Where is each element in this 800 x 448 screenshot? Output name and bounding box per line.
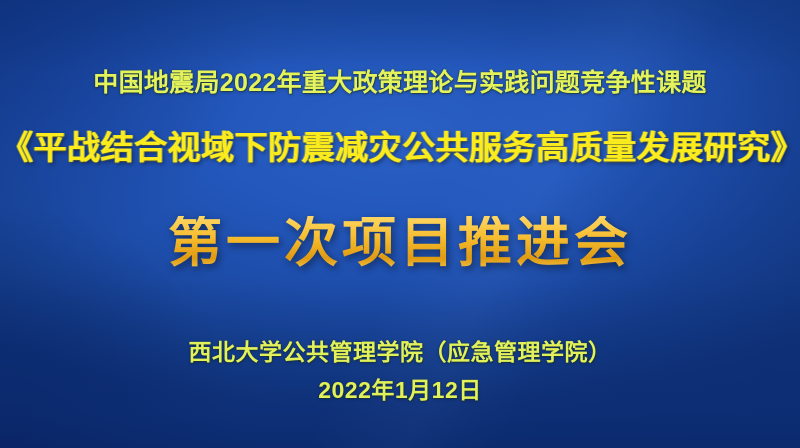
slide-content: 中国地震局2022年重大政策理论与实践问题竞争性课题 《平战结合视域下防震减灾公… <box>0 0 800 448</box>
main-title: 第一次项目推进会 <box>0 216 800 270</box>
organization-line: 西北大学公共管理学院（应急管理学院） <box>0 341 800 364</box>
date-line: 2022年1月12日 <box>0 379 800 402</box>
project-title: 《平战结合视域下防震减灾公共服务高质量发展研究》 <box>0 131 800 164</box>
title-slide: 中国地震局2022年重大政策理论与实践问题竞争性课题 《平战结合视域下防震减灾公… <box>0 0 800 448</box>
program-line: 中国地震局2022年重大政策理论与实践问题竞争性课题 <box>0 71 800 96</box>
